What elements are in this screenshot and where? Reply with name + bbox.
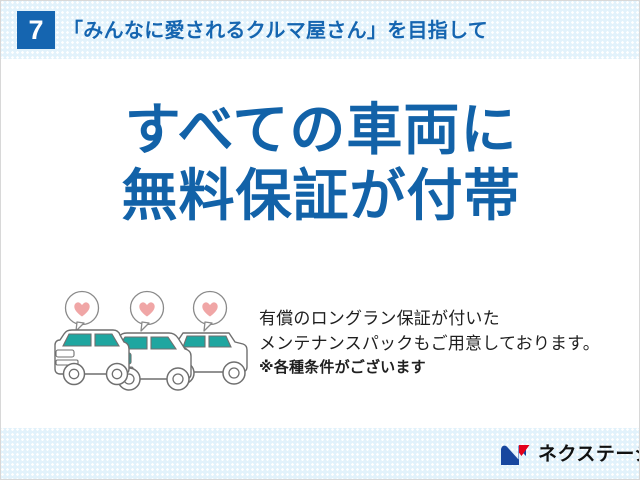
heart-speech-bubble-2	[131, 292, 164, 332]
brand-logo: ネクステージ	[499, 443, 640, 467]
body-copy-line-1: 有償のロングラン保証が付いた	[259, 306, 637, 331]
headline-line-1: すべての車両に	[1, 97, 640, 163]
headline-line-2: 無料保証が付帯	[1, 163, 640, 229]
three-cars-with-heart-bubbles-illustration	[51, 289, 256, 394]
n-mark-logo-icon	[499, 443, 531, 467]
car-illustration-1-kei-wagon	[55, 330, 129, 385]
promo-slide: 7 「みんなに愛されるクルマ屋さん」を目指して すべての車両に 無料保証が付帯	[0, 0, 640, 480]
heart-speech-bubble-3	[194, 292, 227, 332]
header-title: 「みんなに愛されるクルマ屋さん」を目指して	[63, 16, 488, 46]
body-copy-line-2: メンテナンスパックもご用意しております。	[259, 331, 637, 356]
body-copy-note: ※各種条件がございます	[259, 356, 637, 380]
step-number-badge: 7	[17, 11, 55, 49]
heart-speech-bubble-1	[66, 292, 99, 332]
body-copy: 有償のロングラン保証が付いた メンテナンスパックもご用意しております。 ※各種条…	[259, 306, 637, 380]
headline: すべての車両に 無料保証が付帯	[1, 97, 640, 229]
brand-wordmark: ネクステージ	[538, 443, 640, 467]
